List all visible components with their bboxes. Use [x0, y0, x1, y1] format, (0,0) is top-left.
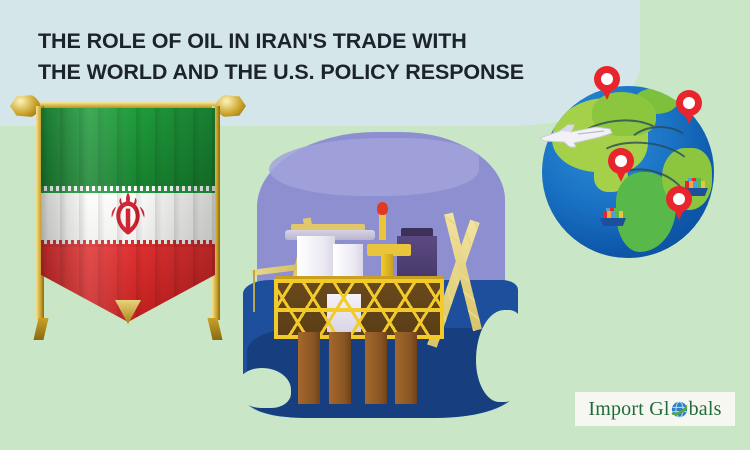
flag-cloth [41, 108, 215, 322]
cargo-ship-icon [600, 208, 626, 226]
ship-containers [603, 211, 623, 218]
rig-sea-notch-left [237, 368, 291, 408]
article-banner: THE ROLE OF OIL IN IRAN'S TRADE WITH THE… [0, 0, 750, 450]
rig-leg [395, 332, 417, 404]
map-pin-icon [608, 148, 634, 182]
banner-title-line-1: THE ROLE OF OIL IN IRAN'S TRADE WITH [38, 26, 558, 57]
rig-sky-highlight [269, 138, 479, 196]
flag-fold-gradient [41, 108, 215, 322]
pin-hole [673, 193, 685, 205]
logo-text-part-1: Import Gl [588, 398, 669, 420]
flag-finial-right-icon [216, 94, 246, 118]
logo-text-part-2: bals [689, 398, 722, 420]
global-trade-globe-illustration [528, 68, 738, 268]
map-pin-icon [676, 90, 702, 124]
rig-leg [329, 332, 351, 404]
rig-flare-flame-icon [377, 202, 388, 215]
banner-title: THE ROLE OF OIL IN IRAN'S TRADE WITH THE… [38, 26, 558, 87]
pin-hole [601, 73, 613, 85]
rig-leg [298, 332, 320, 404]
rig-truss-frame [274, 279, 444, 339]
crane-left-cable [253, 270, 255, 312]
banner-title-line-2: THE WORLD AND THE U.S. POLICY RESPONSE [38, 57, 558, 88]
ship-hull [600, 218, 626, 226]
map-pin-icon [666, 186, 692, 220]
offshore-oil-rig-illustration [243, 132, 518, 417]
pin-hole [683, 97, 695, 109]
rig-leg [365, 332, 387, 404]
iran-flag-banner [14, 92, 242, 330]
logo-text: Import Glbals [588, 398, 721, 421]
map-pin-icon [594, 66, 620, 100]
logo-globe-icon [671, 401, 688, 418]
airplane-icon [534, 122, 616, 148]
pin-hole [615, 155, 627, 167]
import-globals-logo[interactable]: Import Glbals [575, 392, 735, 426]
